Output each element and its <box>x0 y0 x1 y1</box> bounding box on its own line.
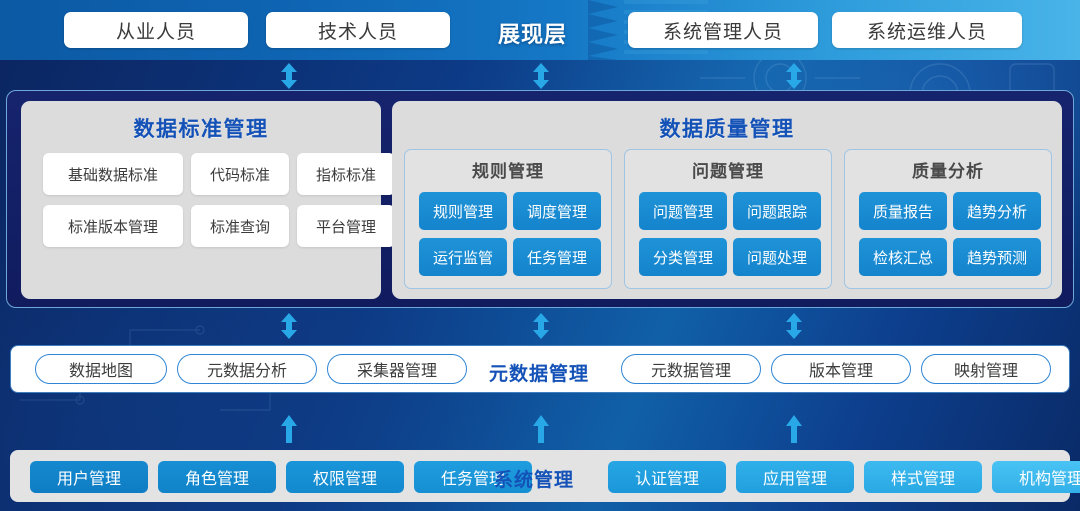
button-label: 问题跟踪 <box>747 201 807 222</box>
button-label: 应用管理 <box>763 465 827 489</box>
role-pill-1[interactable]: 技术人员 <box>266 12 450 48</box>
rule-management-title: 规则管理 <box>405 157 611 182</box>
metadata-button-4[interactable]: 版本管理 <box>771 354 911 384</box>
button-label: 分类管理 <box>653 247 713 268</box>
button-label: 数据地图 <box>69 357 133 381</box>
up-arrow-icon <box>281 415 297 443</box>
metadata-button-1[interactable]: 元数据分析 <box>177 354 317 384</box>
standard-button-4[interactable]: 标准查询 <box>191 205 289 247</box>
analysis-button-2[interactable]: 检核汇总 <box>859 238 947 276</box>
system-button-6[interactable]: 样式管理 <box>864 461 982 493</box>
data-standard-panel-title: 数据标准管理 <box>21 113 381 143</box>
standard-button-3[interactable]: 标准版本管理 <box>43 205 183 247</box>
rule-button-2[interactable]: 运行监管 <box>419 238 507 276</box>
rule-button-3[interactable]: 任务管理 <box>513 238 601 276</box>
bidirectional-arrow-icon <box>785 313 803 339</box>
button-label: 指标标准 <box>316 164 376 185</box>
system-button-5[interactable]: 应用管理 <box>736 461 854 493</box>
standard-button-2[interactable]: 指标标准 <box>297 153 395 195</box>
role-label: 技术人员 <box>318 17 398 44</box>
role-pill-0[interactable]: 从业人员 <box>64 12 248 48</box>
system-button-0[interactable]: 用户管理 <box>30 461 148 493</box>
standard-button-0[interactable]: 基础数据标准 <box>43 153 183 195</box>
up-arrow-icon <box>533 415 549 443</box>
button-label: 样式管理 <box>891 465 955 489</box>
button-label: 采集器管理 <box>357 357 437 381</box>
role-label: 从业人员 <box>116 17 196 44</box>
data-quality-panel-title: 数据质量管理 <box>392 113 1062 143</box>
button-label: 用户管理 <box>57 465 121 489</box>
issue-management-group: 问题管理 问题管理 问题跟踪 分类管理 问题处理 <box>624 149 832 289</box>
rule-button-1[interactable]: 调度管理 <box>513 192 601 230</box>
system-management-title: 系统管理 <box>494 465 574 492</box>
bidirectional-arrow-icon <box>532 63 550 89</box>
metadata-button-5[interactable]: 映射管理 <box>921 354 1051 384</box>
analysis-button-3[interactable]: 趋势预测 <box>953 238 1041 276</box>
button-label: 标准版本管理 <box>68 216 158 237</box>
rule-management-group: 规则管理 规则管理 调度管理 运行监管 任务管理 <box>404 149 612 289</box>
button-label: 任务管理 <box>527 247 587 268</box>
button-label: 运行监管 <box>433 247 493 268</box>
bidirectional-arrow-icon <box>280 313 298 339</box>
button-label: 质量报告 <box>873 201 933 222</box>
button-label: 基础数据标准 <box>68 164 158 185</box>
button-label: 认证管理 <box>635 465 699 489</box>
role-pill-2[interactable]: 系统管理人员 <box>628 12 818 48</box>
bidirectional-arrow-icon <box>785 63 803 89</box>
issue-management-title: 问题管理 <box>625 157 831 182</box>
system-button-1[interactable]: 角色管理 <box>158 461 276 493</box>
metadata-row-title: 元数据管理 <box>489 359 589 386</box>
button-label: 问题处理 <box>747 247 807 268</box>
analysis-button-1[interactable]: 趋势分析 <box>953 192 1041 230</box>
button-label: 权限管理 <box>313 465 377 489</box>
button-label: 趋势预测 <box>967 247 1027 268</box>
standard-button-1[interactable]: 代码标准 <box>191 153 289 195</box>
core-management-frame: 数据标准管理 基础数据标准 代码标准 指标标准 标准版本管理 标准查询 平台管理… <box>6 90 1074 308</box>
system-button-7[interactable]: 机构管理 <box>992 461 1080 493</box>
metadata-button-0[interactable]: 数据地图 <box>35 354 167 384</box>
button-label: 代码标准 <box>210 164 270 185</box>
button-label: 调度管理 <box>527 201 587 222</box>
quality-analysis-title: 质量分析 <box>845 157 1051 182</box>
button-label: 角色管理 <box>185 465 249 489</box>
button-label: 检核汇总 <box>873 247 933 268</box>
data-standard-panel: 数据标准管理 基础数据标准 代码标准 指标标准 标准版本管理 标准查询 平台管理 <box>21 101 381 299</box>
button-label: 元数据分析 <box>207 357 287 381</box>
system-button-4[interactable]: 认证管理 <box>608 461 726 493</box>
role-pill-3[interactable]: 系统运维人员 <box>832 12 1022 48</box>
issue-button-0[interactable]: 问题管理 <box>639 192 727 230</box>
button-label: 机构管理 <box>1019 465 1080 489</box>
architecture-diagram: 从业人员 技术人员 展现层 系统管理人员 系统运维人员 数据标准管理 <box>0 0 1080 511</box>
button-label: 标准查询 <box>210 216 270 237</box>
issue-button-1[interactable]: 问题跟踪 <box>733 192 821 230</box>
system-button-2[interactable]: 权限管理 <box>286 461 404 493</box>
issue-button-2[interactable]: 分类管理 <box>639 238 727 276</box>
up-arrow-icon <box>786 415 802 443</box>
system-management-row: 用户管理 角色管理 权限管理 任务管理 系统管理 认证管理 应用管理 样式管理 … <box>10 450 1070 502</box>
issue-button-3[interactable]: 问题处理 <box>733 238 821 276</box>
metadata-button-3[interactable]: 元数据管理 <box>621 354 761 384</box>
button-label: 平台管理 <box>316 216 376 237</box>
standard-button-5[interactable]: 平台管理 <box>297 205 395 247</box>
analysis-button-0[interactable]: 质量报告 <box>859 192 947 230</box>
rule-button-0[interactable]: 规则管理 <box>419 192 507 230</box>
button-label: 版本管理 <box>809 357 873 381</box>
metadata-button-2[interactable]: 采集器管理 <box>327 354 467 384</box>
button-label: 映射管理 <box>954 357 1018 381</box>
role-label: 系统管理人员 <box>663 17 783 44</box>
presentation-layer-title: 展现层 <box>498 17 567 49</box>
role-label: 系统运维人员 <box>867 17 987 44</box>
bidirectional-arrow-icon <box>532 313 550 339</box>
metadata-management-row: 数据地图 元数据分析 采集器管理 元数据管理 元数据管理 版本管理 映射管理 <box>10 345 1070 393</box>
button-label: 问题管理 <box>653 201 713 222</box>
button-label: 规则管理 <box>433 201 493 222</box>
data-quality-panel: 数据质量管理 规则管理 规则管理 调度管理 运行监管 任务管理 问题管 <box>392 101 1062 299</box>
bidirectional-arrow-icon <box>280 63 298 89</box>
button-label: 趋势分析 <box>967 201 1027 222</box>
quality-analysis-group: 质量分析 质量报告 趋势分析 检核汇总 趋势预测 <box>844 149 1052 289</box>
button-label: 元数据管理 <box>651 357 731 381</box>
presentation-layer-bar: 从业人员 技术人员 展现层 系统管理人员 系统运维人员 <box>0 0 1080 60</box>
